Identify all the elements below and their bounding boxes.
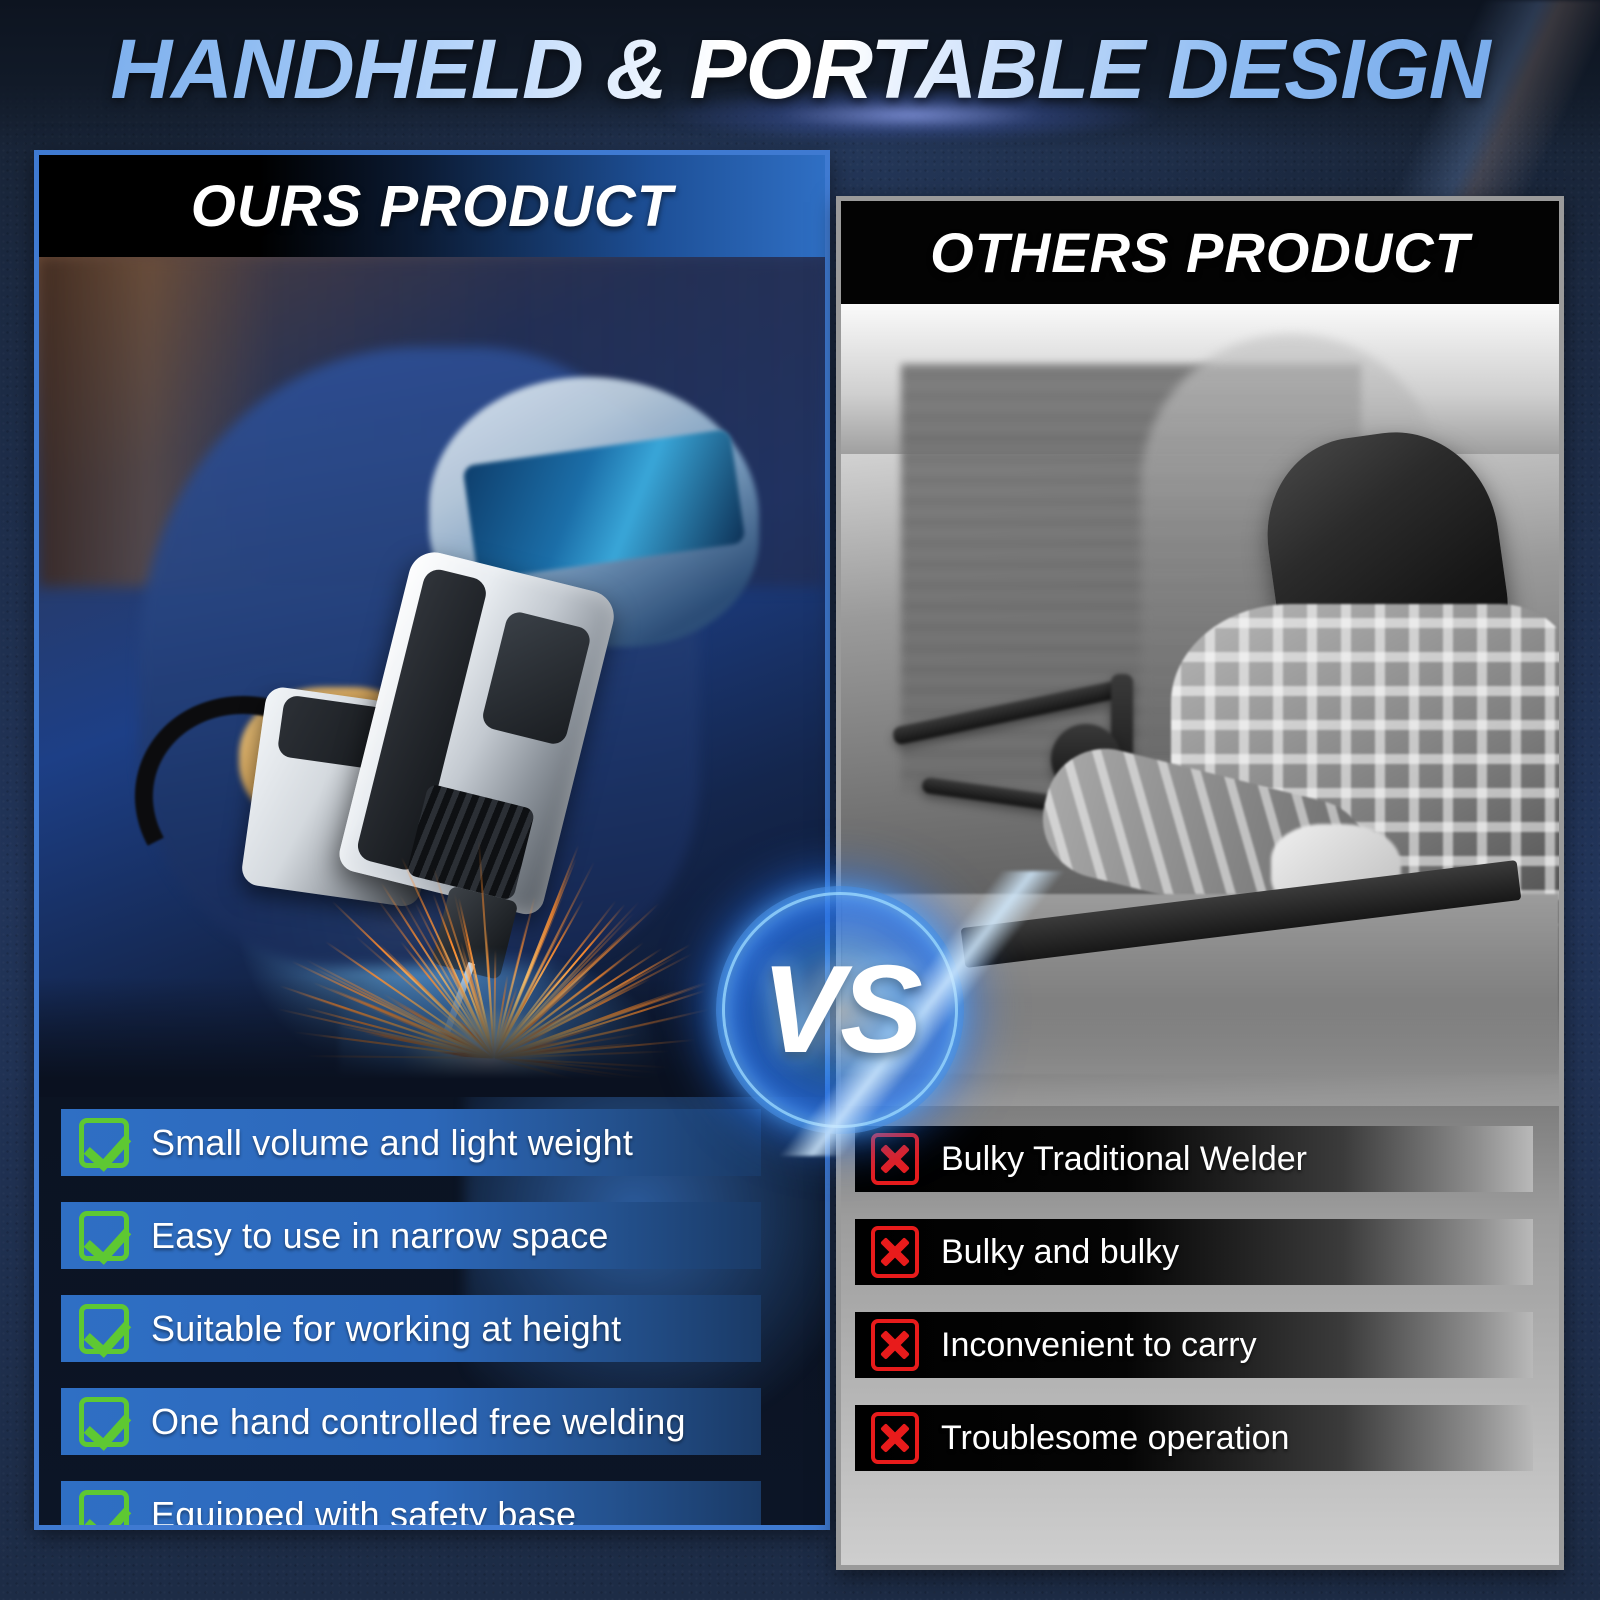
others-product-header: OTHERS PRODUCT xyxy=(841,201,1559,304)
check-icon xyxy=(79,1211,129,1261)
drawback-row: Troublesome operation xyxy=(855,1405,1533,1471)
drawback-label: Bulky and bulky xyxy=(941,1233,1179,1272)
ours-product-header: OURS PRODUCT xyxy=(39,155,825,257)
cross-icon xyxy=(871,1412,919,1464)
feature-label: Small volume and light weight xyxy=(151,1122,633,1164)
feature-label: Easy to use in narrow space xyxy=(151,1215,609,1257)
check-icon xyxy=(79,1397,129,1447)
ours-feature-list: Small volume and light weight Easy to us… xyxy=(39,1097,825,1525)
ours-product-photo xyxy=(39,257,825,1097)
check-icon xyxy=(79,1304,129,1354)
drawback-label: Inconvenient to carry xyxy=(941,1326,1257,1365)
feature-row: Suitable for working at height xyxy=(61,1295,761,1362)
check-icon xyxy=(79,1118,129,1168)
ours-product-panel: OURS PRODUCT Small volume and light weig… xyxy=(34,150,830,1530)
drawback-row: Inconvenient to carry xyxy=(855,1312,1533,1378)
others-drawback-list: Bulky Traditional Welder Bulky and bulky… xyxy=(841,1106,1559,1570)
feature-label: Suitable for working at height xyxy=(151,1308,621,1350)
drawback-label: Troublesome operation xyxy=(941,1419,1289,1458)
feature-row: Easy to use in narrow space xyxy=(61,1202,761,1269)
vs-label: VS xyxy=(716,886,964,1134)
vs-badge: VS xyxy=(716,886,964,1134)
feature-row: One hand controlled free welding xyxy=(61,1388,761,1455)
drawback-row: Bulky and bulky xyxy=(855,1219,1533,1285)
cross-icon xyxy=(871,1319,919,1371)
photo-bottom-fade xyxy=(39,977,825,1097)
feature-label: One hand controlled free welding xyxy=(151,1401,686,1443)
feature-row: Equipped with safety base xyxy=(61,1481,761,1525)
check-icon xyxy=(79,1490,129,1526)
cross-icon xyxy=(871,1226,919,1278)
feature-label: Equipped with safety base xyxy=(151,1494,576,1526)
page-title: HANDHELD & PORTABLE DESIGN xyxy=(0,22,1600,117)
feature-row: Small volume and light weight xyxy=(61,1109,761,1176)
